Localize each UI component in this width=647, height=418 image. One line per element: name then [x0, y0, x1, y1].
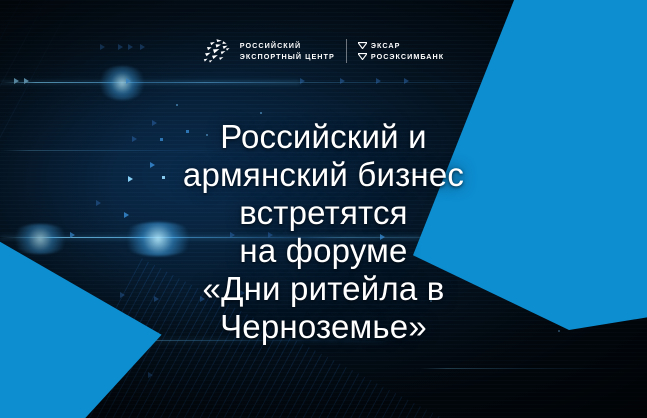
rec-logo: РОССИЙСКИЙ ЭКСПОРТНЫЙ ЦЕНТР [203, 38, 335, 64]
promo-banner: РОССИЙСКИЙ ЭКСПОРТНЫЙ ЦЕНТР ЭКСАР РОСЭКС… [0, 0, 647, 418]
headline-line-6: Черноземье» [92, 308, 555, 346]
logo-lockup: РОССИЙСКИЙ ЭКСПОРТНЫЙ ЦЕНТР ЭКСАР РОСЭКС… [0, 38, 647, 64]
headline-line-5: «Дни ритейла в [92, 270, 555, 308]
rec-sphere-emblem [203, 38, 233, 64]
logo-divider [346, 39, 347, 63]
headline-line-1: Российский и [92, 118, 555, 156]
headline-line-3: встретятся [92, 194, 555, 232]
headline-line-2: армянский бизнес [92, 156, 555, 194]
partner-exar-label: ЭКСАР [371, 42, 401, 50]
partner-logos: ЭКСАР РОСЭКСИМБАНК [358, 42, 444, 61]
partner-roseximbank-label: РОСЭКСИМБАНК [371, 53, 444, 61]
rec-logo-text: РОССИЙСКИЙ ЭКСПОРТНЫЙ ЦЕНТР [240, 41, 335, 61]
chevron-down-icon [358, 42, 367, 49]
rec-logo-line1: РОССИЙСКИЙ [240, 41, 335, 50]
headline: Российский и армянский бизнес встретятся… [0, 118, 647, 346]
partner-exar: ЭКСАР [358, 42, 444, 50]
headline-line-4: на форуме [92, 232, 555, 270]
partner-roseximbank: РОСЭКСИМБАНК [358, 53, 444, 61]
chevron-down-icon [358, 53, 367, 60]
rec-logo-line2: ЭКСПОРТНЫЙ ЦЕНТР [240, 52, 335, 61]
